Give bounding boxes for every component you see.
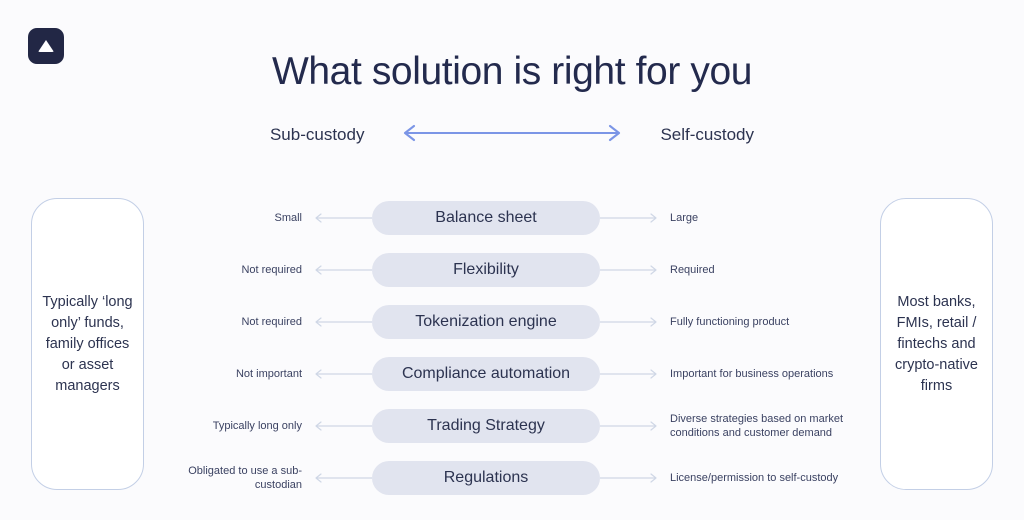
right-connector-arrow-icon — [600, 212, 662, 224]
row-left-value: Small — [165, 211, 310, 226]
row-left-value: Obligated to use a sub-custodian — [165, 464, 310, 493]
matrix-row: Not required Tokenization engine Fully f… — [165, 300, 859, 344]
left-connector-arrow-icon — [310, 368, 372, 380]
right-persona-text: Most banks, FMIs, retail / fintechs and … — [887, 292, 986, 397]
spectrum-right-label: Self-custody — [660, 123, 754, 147]
matrix-row: Typically long only Trading Strategy Div… — [165, 404, 859, 448]
spectrum-left-label: Sub-custody — [270, 123, 365, 147]
right-connector-arrow-icon — [600, 472, 662, 484]
left-connector-arrow-icon — [310, 316, 372, 328]
right-connector-arrow-icon — [600, 316, 662, 328]
right-connector-arrow-icon — [600, 420, 662, 432]
right-persona-card: Most banks, FMIs, retail / fintechs and … — [880, 198, 993, 490]
criterion-pill[interactable]: Balance sheet — [372, 201, 600, 235]
matrix-row: Small Balance sheet Large — [165, 196, 859, 240]
row-right-value: Diverse strategies based on market condi… — [662, 412, 859, 441]
row-right-value: Important for business operations — [662, 367, 859, 382]
criterion-pill[interactable]: Regulations — [372, 461, 600, 495]
row-left-value: Not important — [165, 367, 310, 382]
row-right-value: License/permission to self-custody — [662, 471, 859, 486]
left-connector-arrow-icon — [310, 420, 372, 432]
criterion-pill[interactable]: Trading Strategy — [372, 409, 600, 443]
comparison-matrix: Small Balance sheet Large Not required F… — [165, 196, 859, 496]
matrix-row: Not important Compliance automation Impo… — [165, 352, 859, 396]
left-persona-text: Typically ‘long only’ funds, family offi… — [38, 292, 137, 397]
row-left-value: Typically long only — [165, 419, 310, 434]
row-left-value: Not required — [165, 315, 310, 330]
criterion-pill[interactable]: Tokenization engine — [372, 305, 600, 339]
left-connector-arrow-icon — [310, 212, 372, 224]
row-right-value: Fully functioning product — [662, 315, 859, 330]
left-persona-card: Typically ‘long only’ funds, family offi… — [31, 198, 144, 490]
matrix-row: Obligated to use a sub-custodian Regulat… — [165, 456, 859, 500]
double-headed-arrow-icon — [396, 123, 628, 148]
row-left-value: Not required — [165, 263, 310, 278]
criterion-pill[interactable]: Compliance automation — [372, 357, 600, 391]
custody-spectrum: Sub-custody Self-custody — [0, 121, 1024, 149]
criterion-pill[interactable]: Flexibility — [372, 253, 600, 287]
matrix-row: Not required Flexibility Required — [165, 248, 859, 292]
row-right-value: Required — [662, 263, 859, 278]
left-connector-arrow-icon — [310, 264, 372, 276]
page-title: What solution is right for you — [0, 48, 1024, 96]
right-connector-arrow-icon — [600, 368, 662, 380]
left-connector-arrow-icon — [310, 472, 372, 484]
right-connector-arrow-icon — [600, 264, 662, 276]
row-right-value: Large — [662, 211, 859, 226]
